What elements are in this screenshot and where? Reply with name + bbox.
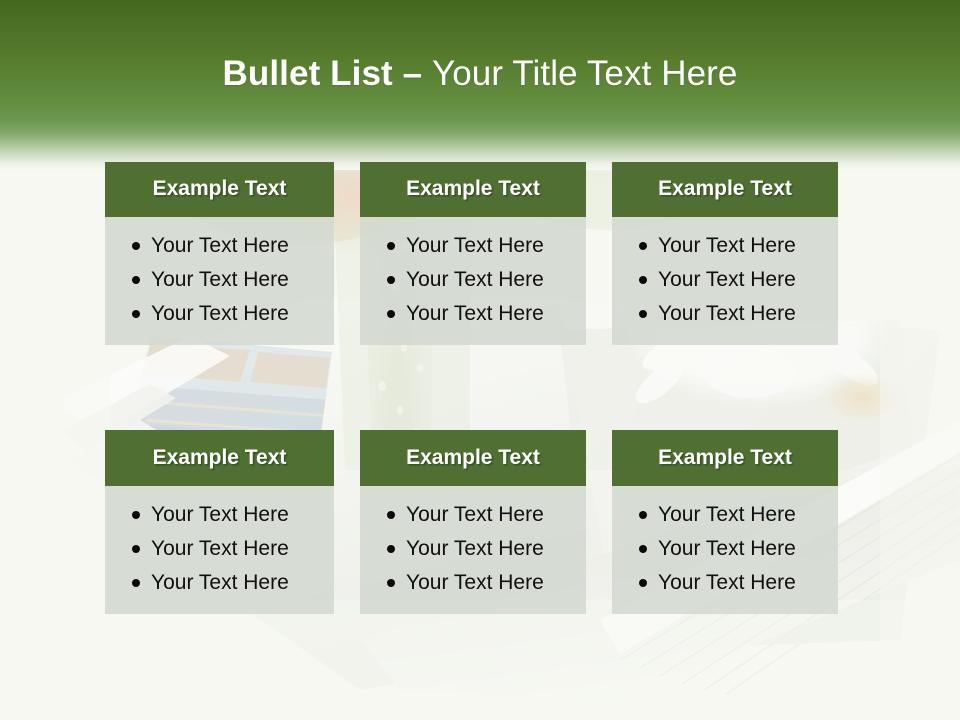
bullet-icon [639,511,647,519]
list-item: Your Text Here [105,498,334,532]
list-item-label: Your Text Here [406,571,544,594]
list-item: Your Text Here [612,263,838,297]
list-item: Your Text Here [612,566,838,600]
card-2-body: Your Text Here Your Text Here Your Text … [360,217,586,345]
card-5-bullet-list: Your Text Here Your Text Here Your Text … [360,498,586,600]
bullet-icon [639,276,647,284]
list-item-label: Your Text Here [406,537,544,560]
list-item-label: Your Text Here [658,234,796,257]
bullet-icon [639,310,647,318]
slide-title: Bullet List – Your Title Text Here [0,52,960,96]
slide-title-bold: Bullet List [223,54,403,93]
list-item: Your Text Here [105,297,334,331]
card-5-heading: Example Text [360,430,586,486]
bullet-icon [639,545,647,553]
list-item: Your Text Here [360,263,586,297]
list-item-label: Your Text Here [406,268,544,291]
list-item-label: Your Text Here [658,571,796,594]
card-1-body: Your Text Here Your Text Here Your Text … [105,217,334,345]
bullet-icon [387,276,395,284]
list-item: Your Text Here [105,532,334,566]
list-item-label: Your Text Here [658,302,796,325]
list-item: Your Text Here [612,297,838,331]
card-4-bullet-list: Your Text Here Your Text Here Your Text … [105,498,334,600]
bullet-icon [132,545,140,553]
list-item-label: Your Text Here [151,571,289,594]
card-4-heading: Example Text [105,430,334,486]
list-item-label: Your Text Here [406,503,544,526]
list-item-label: Your Text Here [658,503,796,526]
list-item: Your Text Here [360,498,586,532]
card-2-bullet-list: Your Text Here Your Text Here Your Text … [360,229,586,331]
list-item: Your Text Here [360,297,586,331]
bullet-icon [387,579,395,587]
content-card-6[interactable]: Example Text Your Text Here Your Text He… [612,430,838,614]
slide-title-dash: – [403,54,432,93]
bullet-icon [639,242,647,250]
card-4-body: Your Text Here Your Text Here Your Text … [105,486,334,614]
bullet-icon [639,579,647,587]
list-item: Your Text Here [360,566,586,600]
bullet-icon [132,511,140,519]
slide-title-regular: Your Title Text Here [432,54,738,93]
content-card-4[interactable]: Example Text Your Text Here Your Text He… [105,430,334,614]
list-item: Your Text Here [105,263,334,297]
card-3-bullet-list: Your Text Here Your Text Here Your Text … [612,229,838,331]
list-item-label: Your Text Here [151,302,289,325]
list-item: Your Text Here [612,229,838,263]
card-2-heading: Example Text [360,162,586,217]
card-3-heading: Example Text [612,162,838,217]
content-card-2[interactable]: Example Text Your Text Here Your Text He… [360,162,586,345]
card-6-bullet-list: Your Text Here Your Text Here Your Text … [612,498,838,600]
bullet-icon [132,242,140,250]
card-6-body: Your Text Here Your Text Here Your Text … [612,486,838,614]
list-item-label: Your Text Here [151,234,289,257]
list-item: Your Text Here [612,498,838,532]
card-5-body: Your Text Here Your Text Here Your Text … [360,486,586,614]
bullet-icon [132,579,140,587]
card-6-heading: Example Text [612,430,838,486]
card-3-body: Your Text Here Your Text Here Your Text … [612,217,838,345]
list-item-label: Your Text Here [151,537,289,560]
bullet-icon [387,545,395,553]
card-1-bullet-list: Your Text Here Your Text Here Your Text … [105,229,334,331]
card-1-heading: Example Text [105,162,334,217]
bullet-icon [132,310,140,318]
bullet-icon [387,511,395,519]
presentation-slide: Bullet List – Your Title Text Here Examp… [0,0,960,720]
list-item-label: Your Text Here [406,234,544,257]
list-item-label: Your Text Here [151,268,289,291]
list-item-label: Your Text Here [658,537,796,560]
bullet-icon [387,310,395,318]
list-item: Your Text Here [105,229,334,263]
list-item-label: Your Text Here [406,302,544,325]
bullet-icon [132,276,140,284]
list-item-label: Your Text Here [151,503,289,526]
list-item: Your Text Here [105,566,334,600]
list-item-label: Your Text Here [658,268,796,291]
content-card-1[interactable]: Example Text Your Text Here Your Text He… [105,162,334,345]
list-item: Your Text Here [612,532,838,566]
bullet-icon [387,242,395,250]
content-card-3[interactable]: Example Text Your Text Here Your Text He… [612,162,838,345]
list-item: Your Text Here [360,532,586,566]
content-card-5[interactable]: Example Text Your Text Here Your Text He… [360,430,586,614]
list-item: Your Text Here [360,229,586,263]
